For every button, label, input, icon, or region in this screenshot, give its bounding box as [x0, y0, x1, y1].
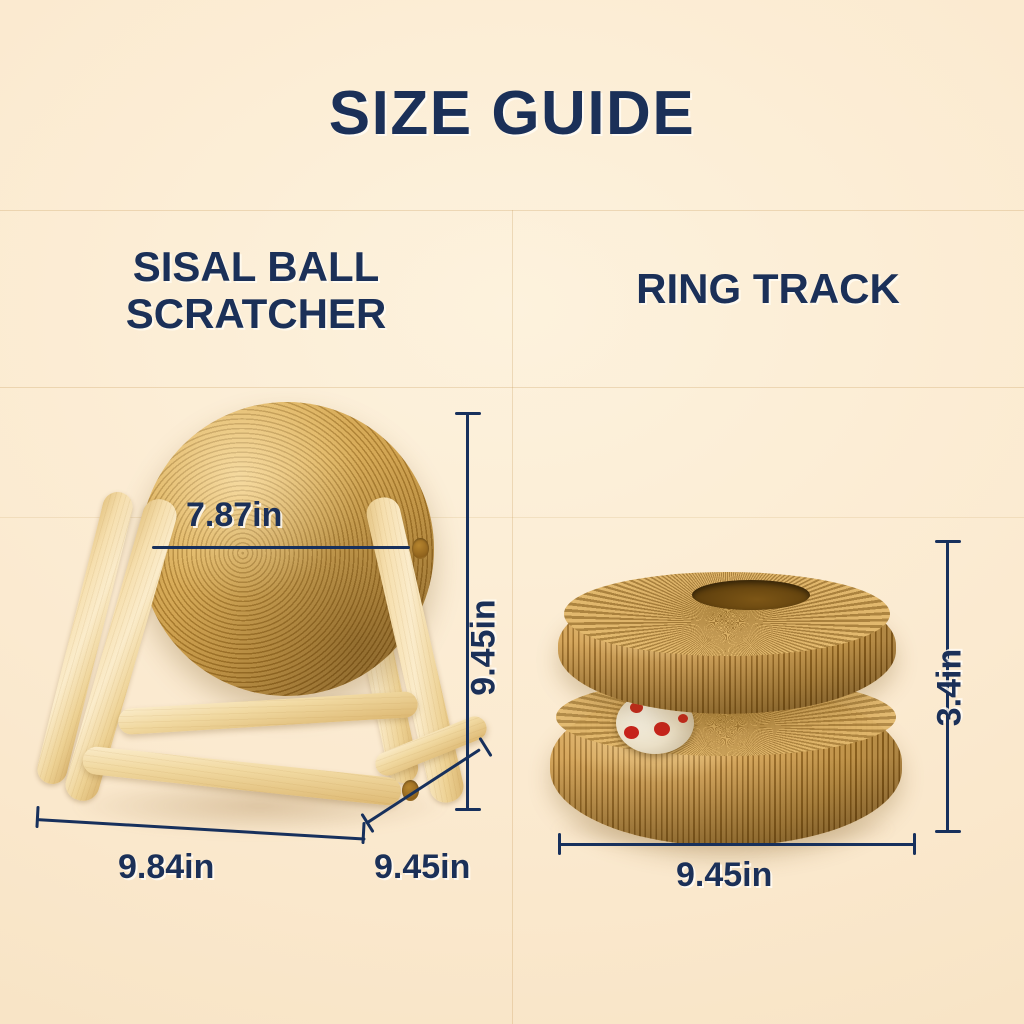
ringtrack-width-tick-left — [558, 833, 561, 855]
stand-rail-front — [81, 745, 402, 806]
dim-label-stand-width: 9.84in — [118, 848, 214, 887]
product-illustration-sisal-ball-scratcher — [60, 390, 500, 830]
ringtrack-width-tick-right — [913, 833, 916, 855]
play-ball-dot — [654, 722, 670, 736]
ringtrack-height-tick-bottom — [935, 830, 961, 833]
stand-width-tick-right — [361, 822, 365, 844]
stand-peg-upper — [412, 538, 429, 559]
panel-heading-sisal-ball-scratcher: SISAL BALL SCRATCHER — [40, 243, 472, 337]
dim-label-stand-height: 9.45in — [465, 568, 504, 728]
dim-label-ringtrack-height: 3.4in — [931, 628, 970, 748]
play-ball-dot — [678, 714, 688, 723]
dim-label-ringtrack-width: 9.45in — [676, 856, 772, 895]
play-ball-dot — [624, 726, 639, 739]
product-illustration-ring-track — [540, 560, 910, 850]
ringtrack-width-rule — [558, 843, 916, 846]
stand-rail-top — [117, 691, 418, 735]
stand-height-tick-top — [455, 412, 481, 415]
stand-height-tick-bottom — [455, 808, 481, 811]
dim-label-ball-diameter: 7.87in — [186, 496, 282, 535]
stand-width-tick-left — [35, 806, 39, 828]
ringtrack-height-tick-top — [935, 540, 961, 543]
ball-diameter-rule — [152, 546, 410, 549]
page-title: SIZE GUIDE — [0, 78, 1024, 149]
divider-vertical-center — [512, 210, 513, 1024]
panel-heading-ring-track: RING TRACK — [552, 265, 984, 312]
ring-upper-center-hole — [692, 580, 810, 610]
size-guide-infographic: SIZE GUIDE SISAL BALL SCRATCHER RING TRA… — [0, 0, 1024, 1024]
dim-label-stand-depth: 9.45in — [374, 848, 470, 887]
